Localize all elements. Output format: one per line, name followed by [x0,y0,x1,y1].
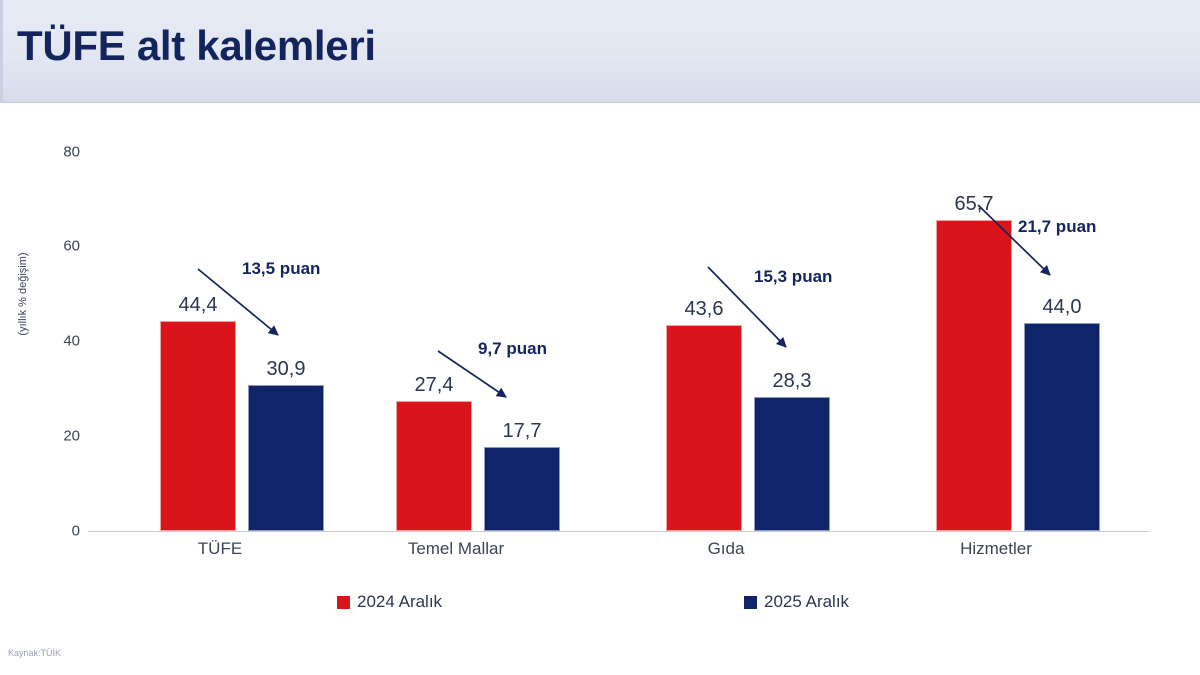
y-axis-title: (yıllık % değişim) [17,229,29,359]
header-band: TÜFE alt kalemleri [0,0,1200,103]
bar-value-2024-tufe: 44,4 [150,294,246,317]
x-label-temel-mallar: Temel Mallar [338,539,574,559]
bar-value-2024-gida: 43,6 [656,298,752,321]
bar-group-temel-mallar: 27,4 17,7 9,7 puan [338,131,574,531]
bar-2025-tufe[interactable] [248,385,324,531]
y-tick-80: 80 [36,144,80,161]
bar-group-hizmetler: 65,7 44,0 21,7 puan [878,131,1114,531]
y-tick-20: 20 [36,428,80,445]
bar-group-gida: 43,6 28,3 15,3 puan [608,131,844,531]
y-tick-40: 40 [36,333,80,350]
annotation-hizmetler: 21,7 puan [1018,217,1096,237]
chart-container: (yıllık % değişim) 0 20 40 60 80 44,4 30… [0,103,1200,675]
legend-label-2024: 2024 Aralık [357,592,442,612]
bar-2025-temel-mallar[interactable] [484,447,560,531]
page-title: TÜFE alt kalemleri [17,22,376,70]
bar-2024-gida[interactable] [666,325,742,531]
annotation-gida: 15,3 puan [754,267,832,287]
chart-legend: 2024 Aralık 2025 Aralık [0,592,1200,622]
bar-group-tufe: 44,4 30,9 13,5 puan [102,131,338,531]
bar-2024-temel-mallar[interactable] [396,401,472,531]
bar-2025-hizmetler[interactable] [1024,323,1100,531]
legend-item-2024[interactable]: 2024 Aralık [337,592,442,612]
x-label-tufe: TÜFE [102,539,338,559]
bar-value-2024-temel-mallar: 27,4 [386,374,482,397]
legend-swatch-red-icon [337,596,350,609]
legend-label-2025: 2025 Aralık [764,592,849,612]
y-tick-0: 0 [36,523,80,540]
bar-value-2025-hizmetler: 44,0 [1014,296,1110,319]
bar-value-2025-temel-mallar: 17,7 [474,420,570,443]
x-label-gida: Gıda [608,539,844,559]
annotation-temel-mallar: 9,7 puan [478,339,547,359]
x-label-hizmetler: Hizmetler [878,539,1114,559]
legend-swatch-navy-icon [744,596,757,609]
bar-value-2025-tufe: 30,9 [238,358,334,381]
annotation-tufe: 13,5 puan [242,259,320,279]
bar-value-2025-gida: 28,3 [744,370,840,393]
bar-2024-tufe[interactable] [160,321,236,531]
plot-area: 44,4 30,9 13,5 puan 27,4 17,7 9,7 puan [88,103,1150,575]
source-note: Kaynak:TÜİK [8,648,61,658]
bar-2025-gida[interactable] [754,397,830,531]
bar-2024-hizmetler[interactable] [936,220,1012,531]
legend-item-2025[interactable]: 2025 Aralık [744,592,849,612]
y-tick-60: 60 [36,238,80,255]
bar-value-2024-hizmetler: 65,7 [926,193,1022,216]
